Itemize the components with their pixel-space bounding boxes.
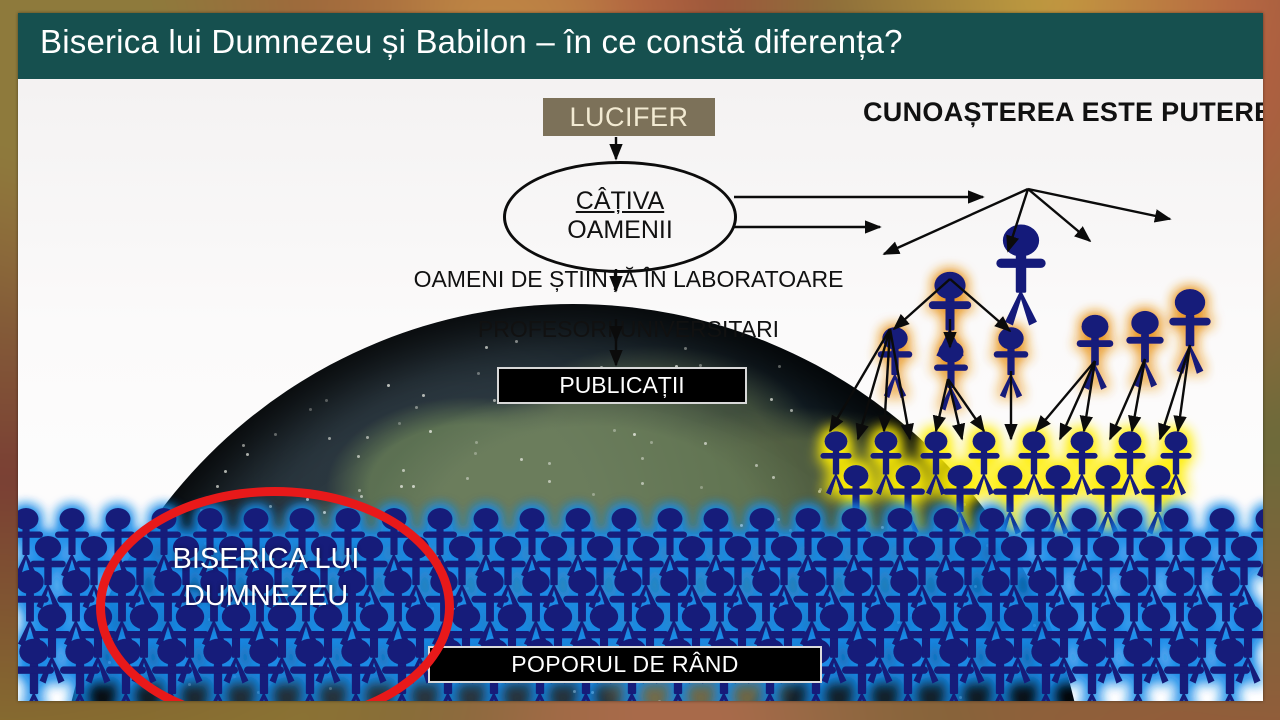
slide-title: Biserica lui Dumnezeu și Babilon – în ce…	[40, 23, 903, 61]
church-line-1: BISERICA LUI	[138, 541, 394, 578]
presentation-slide: Biserica lui Dumnezeu și Babilon – în ce…	[18, 13, 1263, 701]
church-line-2: DUMNEZEU	[138, 578, 394, 615]
common-people-label: POPORUL DE RÂND	[511, 651, 739, 678]
church-of-god-label: BISERICA LUI DUMNEZEU	[138, 541, 394, 615]
slide-canvas: LUCIFER CÂȚIVA OAMENII OAMENI DE ȘTIINȚĂ…	[18, 79, 1263, 701]
common-people-box: POPORUL DE RÂND	[428, 646, 822, 683]
slide-stage: Biserica lui Dumnezeu și Babilon – în ce…	[0, 0, 1280, 720]
